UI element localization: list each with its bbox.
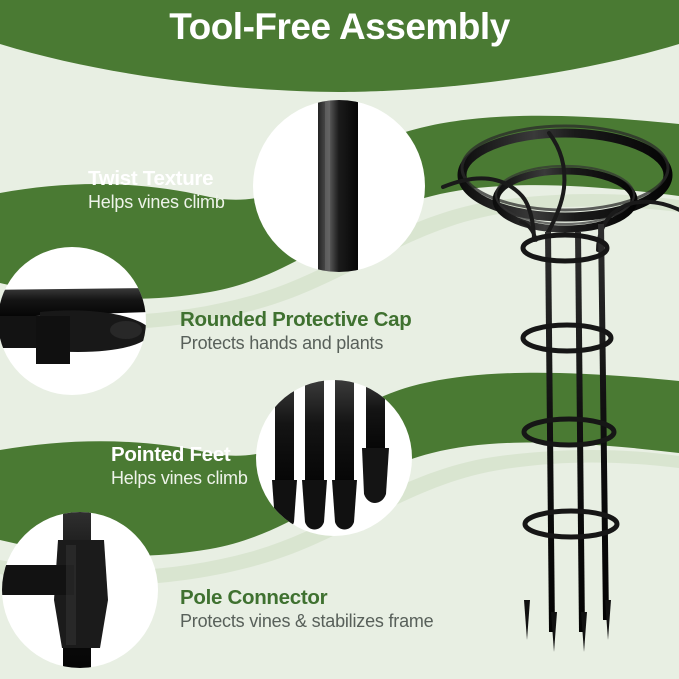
feature-title: Twist Texture (88, 168, 225, 191)
feature-title: Pole Connector (180, 587, 434, 610)
feature-twist-texture: Twist Texture Helps vines climb (88, 168, 225, 214)
pole-shaft-photo (318, 90, 358, 290)
foot-pole-d (366, 378, 385, 456)
connector-arm (0, 565, 74, 595)
page-title: Tool-Free Assembly (0, 6, 679, 48)
feature-pole-connector: Pole Connector Protects vines & stabiliz… (180, 587, 434, 633)
cap-collar (36, 316, 70, 364)
feature-subtitle: Helps vines climb (88, 192, 225, 214)
connector-highlight (66, 545, 76, 645)
photo-circle-pointed-feet (256, 378, 412, 536)
feature-rounded-protective-cap: Rounded Protective Cap Protects hands an… (180, 309, 411, 355)
foot-tip-c (332, 480, 357, 530)
photo-circle-pole-connector (0, 490, 158, 679)
feature-title: Pointed Feet (111, 444, 248, 467)
pole-shaft-highlight (325, 90, 330, 290)
product-infographic: Tool-Free Assembly Twist Texture Helps v… (0, 0, 679, 679)
foot-pole-a (275, 380, 294, 490)
feature-title: Rounded Protective Cap (180, 309, 411, 332)
cap-highlight (110, 321, 142, 339)
foot-tip-b (302, 480, 327, 530)
feature-pointed-feet: Pointed Feet Helps vines climb (111, 444, 248, 490)
photo-circle-twist-texture (253, 90, 425, 290)
feature-subtitle: Helps vines climb (111, 468, 248, 490)
foot-pole-b (305, 380, 324, 490)
feature-subtitle: Protects hands and plants (180, 333, 411, 355)
foot-pole-c (335, 380, 354, 490)
photo-circle-protective-cap (0, 247, 152, 395)
foot-tip-d (362, 448, 389, 503)
foot-tip-a (272, 480, 297, 530)
feature-subtitle: Protects vines & stabilizes frame (180, 611, 434, 633)
